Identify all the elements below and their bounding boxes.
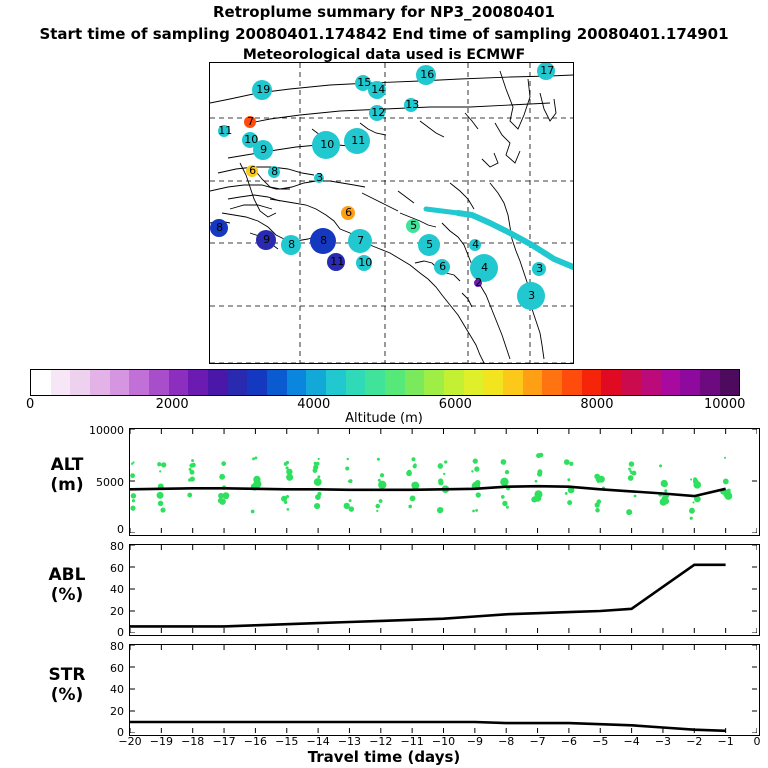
colorbar-swatch	[70, 370, 90, 395]
x-axis-label: Travel time (days)	[0, 748, 768, 766]
map-marker-label: 5	[410, 219, 417, 232]
map-marker-label: 8	[288, 238, 295, 251]
abl-y-tick-label: 80	[84, 540, 124, 553]
colorbar-swatch	[169, 370, 189, 395]
colorbar-swatch	[110, 370, 130, 395]
x-tick-label: −18	[179, 735, 207, 748]
x-tick-label: 0	[743, 735, 768, 748]
page-title: Retroplume summary for NP3_20080401	[0, 3, 768, 21]
x-tick-label: −8	[492, 735, 520, 748]
map-marker-label: 5	[426, 238, 433, 251]
abl-plot	[130, 545, 757, 633]
plume-track-tail	[426, 209, 458, 213]
map-marker-label: 11	[330, 255, 344, 268]
colorbar-swatch	[424, 370, 444, 395]
map-marker-label: 3	[316, 171, 323, 184]
map-marker-label: 13	[405, 98, 419, 111]
colorbar-tick-label: 10000	[704, 397, 745, 412]
str-panel	[129, 644, 760, 736]
str-plot	[130, 645, 757, 733]
colorbar-swatch	[346, 370, 366, 395]
abl-y-tick-label: 20	[84, 605, 124, 618]
colorbar-swatch	[365, 370, 385, 395]
map-coastlines	[210, 63, 573, 363]
map-marker-label: 9	[263, 233, 270, 246]
x-tick-label: −6	[555, 735, 583, 748]
x-tick-label: −16	[241, 735, 269, 748]
x-tick-label: −12	[367, 735, 395, 748]
map-marker-label: 12	[371, 106, 385, 119]
map-marker-label: 11	[351, 134, 365, 147]
x-tick-label: −5	[586, 735, 614, 748]
colorbar-swatch	[287, 370, 307, 395]
colorbar-tick-label: 2000	[156, 397, 189, 412]
x-tick-label: −1	[712, 735, 740, 748]
x-tick-label: −15	[273, 735, 301, 748]
alt-axis-label-line1: ALT	[8, 455, 126, 475]
colorbar-swatch	[503, 370, 523, 395]
colorbar-swatch	[523, 370, 543, 395]
alt-plot	[130, 429, 757, 533]
map-marker-label: 7	[247, 115, 254, 128]
colorbar-swatch	[208, 370, 228, 395]
alt-y-tick-label: 0	[84, 523, 124, 536]
x-tick-label: −9	[461, 735, 489, 748]
map-marker-label: 11	[218, 124, 232, 137]
colorbar-swatch	[149, 370, 169, 395]
colorbar-swatch	[326, 370, 346, 395]
map-marker-label: 4	[481, 261, 488, 274]
abl-y-tick-label: 60	[84, 562, 124, 575]
abl-y-tick-label: 40	[84, 583, 124, 596]
colorbar-swatch	[90, 370, 110, 395]
colorbar-swatch	[621, 370, 641, 395]
colorbar-swatch	[129, 370, 149, 395]
colorbar-swatch	[601, 370, 621, 395]
map-marker-label: 10	[320, 138, 334, 151]
alt-y-tick-label: 10000	[84, 424, 124, 437]
sampling-time-subtitle: Start time of sampling 20080401.174842 E…	[0, 25, 768, 43]
map-marker-label: 6	[249, 164, 256, 177]
colorbar-swatch	[641, 370, 661, 395]
map-marker-label: 6	[439, 260, 446, 273]
colorbar-swatch	[483, 370, 503, 395]
map-marker-label: 8	[216, 221, 223, 234]
str-y-tick-label: 40	[84, 683, 124, 696]
colorbar-swatch	[720, 370, 740, 395]
meteorological-data-note: Meteorological data used is ECMWF	[0, 47, 768, 63]
str-y-tick-label: 60	[84, 662, 124, 675]
colorbar-swatch	[582, 370, 602, 395]
colorbar-swatch	[51, 370, 71, 395]
map-marker-label: 8	[271, 165, 278, 178]
colorbar-swatch	[464, 370, 484, 395]
colorbar-swatch	[405, 370, 425, 395]
x-tick-label: −13	[335, 735, 363, 748]
x-tick-label: −20	[116, 735, 144, 748]
x-tick-label: −2	[680, 735, 708, 748]
x-tick-label: −11	[398, 735, 426, 748]
map-marker-label: 6	[345, 206, 352, 219]
colorbar-swatch	[385, 370, 405, 395]
map-marker-label: 2	[475, 276, 482, 289]
alt-panel	[129, 428, 760, 536]
x-tick-label: −17	[210, 735, 238, 748]
colorbar-swatch	[700, 370, 720, 395]
altitude-colorbar	[30, 369, 740, 396]
x-tick-label: −4	[618, 735, 646, 748]
map-marker-label: 8	[320, 234, 327, 247]
colorbar-swatch	[247, 370, 267, 395]
map-marker-label: 3	[528, 289, 535, 302]
map-marker-label: 16	[420, 68, 434, 81]
x-tick-label: −19	[147, 735, 175, 748]
colorbar-swatch	[562, 370, 582, 395]
colorbar-tick-label: 6000	[439, 397, 472, 412]
colorbar-swatch	[444, 370, 464, 395]
map-marker-label: 4	[472, 238, 479, 251]
x-tick-label: −7	[524, 735, 552, 748]
colorbar-tick-label: 4000	[297, 397, 330, 412]
x-tick-label: −14	[304, 735, 332, 748]
retroplume-map: 1915141617131211101110976836589887511104…	[209, 62, 574, 364]
colorbar-swatch	[680, 370, 700, 395]
colorbar-swatch	[228, 370, 248, 395]
abl-panel	[129, 544, 760, 636]
colorbar-swatch	[31, 370, 51, 395]
map-marker-label: 17	[540, 64, 554, 77]
map-marker-label: 14	[371, 83, 385, 96]
map-marker-label: 3	[536, 262, 543, 275]
str-y-tick-label: 80	[84, 640, 124, 653]
map-marker-label: 10	[358, 256, 372, 269]
x-tick-label: −10	[430, 735, 458, 748]
map-marker-label: 9	[260, 143, 267, 156]
colorbar-swatch	[306, 370, 326, 395]
colorbar-tick-label: 0	[26, 397, 34, 412]
colorbar-swatch	[661, 370, 681, 395]
alt-y-tick-label: 5000	[84, 476, 124, 489]
colorbar-swatch	[267, 370, 287, 395]
colorbar-swatch	[188, 370, 208, 395]
str-y-tick-label: 20	[84, 705, 124, 718]
colorbar-swatch	[542, 370, 562, 395]
colorbar-tick-label: 8000	[580, 397, 613, 412]
abl-y-tick-label: 0	[84, 626, 124, 639]
x-tick-label: −3	[649, 735, 677, 748]
map-marker-label: 7	[357, 234, 364, 247]
map-marker-label: 19	[256, 83, 270, 96]
